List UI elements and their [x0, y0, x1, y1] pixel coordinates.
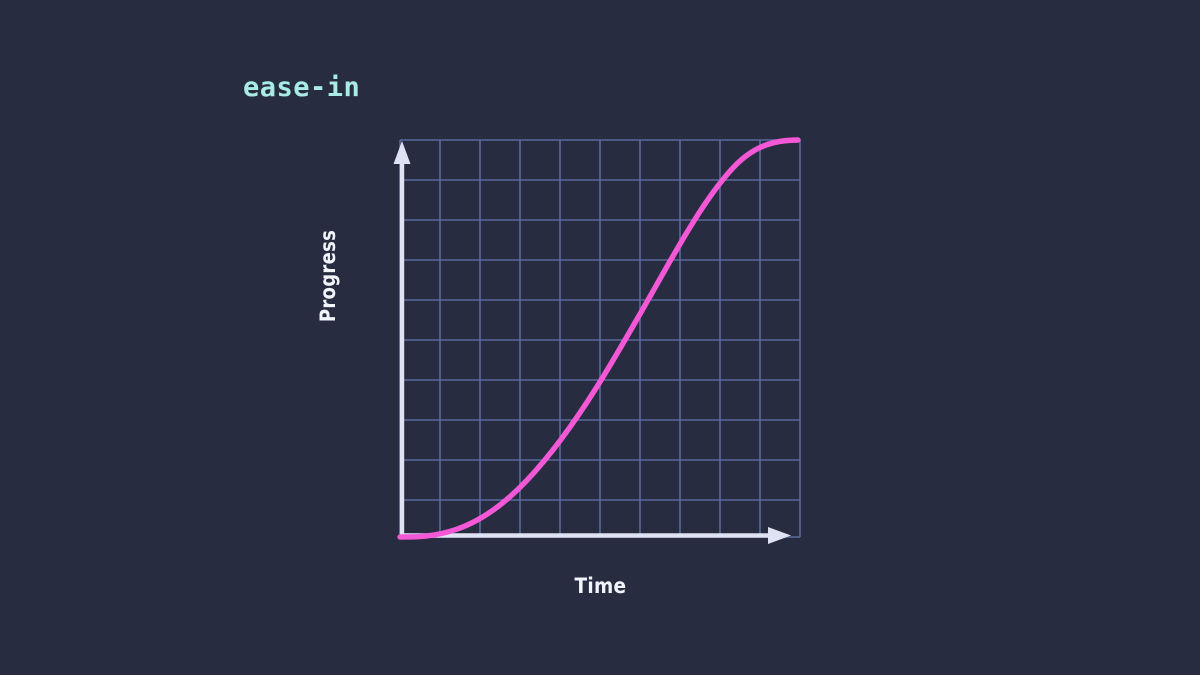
chart-canvas: ease-in: [0, 0, 1200, 675]
y-axis-label-text: Progress: [314, 224, 342, 327]
y-axis-label: Progress: [314, 216, 342, 336]
x-axis-label-text: Time: [574, 572, 626, 600]
ease-in-curve: [400, 140, 798, 537]
grid-lines: [400, 140, 800, 537]
x-axis-arrowhead: [768, 527, 791, 544]
x-axis-label: Time: [505, 572, 695, 600]
y-axis: [394, 141, 411, 537]
y-axis-arrowhead: [394, 141, 411, 164]
